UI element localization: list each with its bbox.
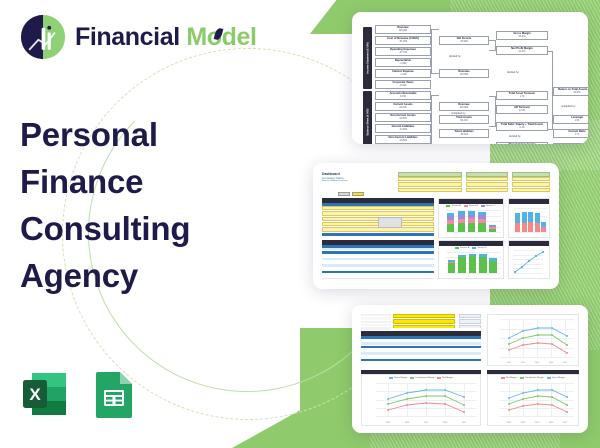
operator-divided-by-1: divided by xyxy=(449,55,461,58)
node-total-debt-ratio: Total Debt / Equity + Total Assets0.49 xyxy=(496,122,548,131)
chart-profitability xyxy=(508,198,550,238)
preview-card-dupont-flowchart[interactable]: Income Statement (€ 000) Balance Sheet (… xyxy=(352,12,588,144)
chart-investment-payback xyxy=(508,240,550,279)
preview-card-dashboard[interactable]: Dashboard Company Name Select a differen… xyxy=(313,163,559,289)
node-depreciation: Depreciation-1,980 xyxy=(375,58,431,67)
page-title-line2: Finance xyxy=(20,159,270,206)
chart-plot-area xyxy=(446,210,501,232)
node-return-on-total-assets: Return on Total Assets (ROA)39.0% xyxy=(553,87,588,96)
node-net-income: Net Income25,900 xyxy=(439,36,489,45)
node-financial-leverage: Financial Leverage (multiplier)1.95 xyxy=(553,143,588,144)
connector-margin-to-roa xyxy=(548,51,553,96)
connector-is-to-netincome xyxy=(431,29,439,74)
chart-plot-area-4 xyxy=(513,250,543,273)
brand-name-part1: Financial xyxy=(75,23,180,51)
chart-legend-bl: Gross Margin Contribution Margin Net Mar… xyxy=(362,376,480,380)
node-ar-turnover: AR Turnover12.65 xyxy=(496,105,548,114)
node-current-assets: Current Assets24,600 xyxy=(375,102,431,111)
bar-2023 xyxy=(447,213,454,232)
gm-top-series xyxy=(500,319,576,359)
bar-2026 xyxy=(478,212,485,232)
highlighted-cell-range xyxy=(378,217,402,228)
assumptions-rows-2 xyxy=(466,177,508,193)
node-non-current-assets: Non-Current Assets41,800 xyxy=(375,113,431,122)
google-sheets-icon[interactable] xyxy=(88,368,140,420)
assumptions-rows-3 xyxy=(512,177,550,193)
operator-divided-by-2: multiplied by xyxy=(451,112,465,115)
node-total-assets: Total Assets66,400 xyxy=(439,115,489,124)
band-balance-sheet: Balance Sheet (€ 000) xyxy=(363,91,372,144)
currency-value-cell[interactable] xyxy=(352,192,364,196)
dupont-flowchart: Income Statement (€ 000) Balance Sheet (… xyxy=(359,19,581,137)
chart-cash-flow: Service A Service D xyxy=(438,240,504,279)
left-content-column: Financial Model Personal Finance Consult… xyxy=(20,14,270,299)
node-revenue-3: Revenue115,800 xyxy=(439,102,489,111)
chart-title-bar-2 xyxy=(509,199,549,204)
circle-chart-logo-icon xyxy=(20,14,66,60)
projections-screenshot: 2023 2024 2025 2026 2027 Gross Margin Co… xyxy=(359,312,581,426)
currency-select[interactable] xyxy=(338,192,350,196)
node-current-liabilities: Current Liabilities-13,900 xyxy=(375,124,431,133)
node-corporate-taxes: Corporate Taxes-8,050 xyxy=(375,80,431,89)
connector-assets-to-turnover xyxy=(489,96,496,127)
brand-wordmark: Financial Model xyxy=(75,25,257,50)
page-title: Personal Finance Consulting Agency xyxy=(20,112,270,299)
node-revenue-2: Revenue115,800 xyxy=(439,69,489,78)
page-title-line4: Agency xyxy=(20,253,270,300)
chart-gross-margin-top: 2023 2024 2025 2026 2027 xyxy=(487,314,579,366)
chart-plot-area-3 xyxy=(446,252,501,273)
dashboard-header: Dashboard Company Name Select a differen… xyxy=(322,172,384,188)
preview-card-projections[interactable]: 2023 2024 2025 2026 2027 Gross Margin Co… xyxy=(352,305,588,433)
poster-canvas: Financial Model Personal Finance Consult… xyxy=(0,0,600,448)
chart-plot-area-2 xyxy=(514,208,547,232)
chart-title-bar-4 xyxy=(509,241,549,246)
core-financials-rows xyxy=(322,248,434,279)
node-accounts-receivable: Accounts Receivable9,150 xyxy=(375,91,431,100)
bar-2027 xyxy=(489,225,496,232)
operator-multiplied-by-1: divided by xyxy=(507,71,519,74)
key-financials-total-row xyxy=(322,233,434,236)
brand-logo: Financial Model xyxy=(20,14,270,60)
node-total-asset-turnover: Total Asset Turnover1.74 xyxy=(496,91,548,100)
band-income-statement: Income Statement (€ 000) xyxy=(363,27,372,89)
file-format-icons: X xyxy=(20,368,140,420)
projections-input-labels xyxy=(361,314,391,328)
microsoft-excel-icon[interactable]: X xyxy=(20,368,72,420)
projections-summary-cells xyxy=(459,314,481,328)
node-shareholders-equity: Shareholder's Equity34,000 xyxy=(496,142,548,144)
opex-br-series xyxy=(500,383,576,418)
chart-gross-margin-bottom-left: Gross Margin Contribution Margin Net Mar… xyxy=(361,374,481,426)
node-opex: Operating Expenses-27,750 xyxy=(375,47,431,56)
bar-2024 xyxy=(458,211,465,232)
page-title-line1: Personal xyxy=(20,112,270,159)
node-interest-expense: Interest Expense-1,120 xyxy=(375,69,431,78)
chart-title-bar-3 xyxy=(439,241,503,246)
node-current-ratio: Current Ratio1.77 xyxy=(553,129,588,138)
chart-plot-bl: 2023 2024 2025 2026 2027 xyxy=(376,383,476,416)
projections-table-rows xyxy=(361,339,481,364)
projections-yellow-inputs[interactable] xyxy=(393,314,455,328)
dashboard-screenshot: Dashboard Company Name Select a differen… xyxy=(320,170,552,282)
brand-name-part2: Model xyxy=(186,23,256,51)
svg-text:X: X xyxy=(29,385,41,404)
assumptions-rows-1 xyxy=(398,177,462,193)
node-leverage: Leverage1.95 xyxy=(553,115,588,124)
connector-netincome-to-margin xyxy=(489,40,496,51)
chart-legend-br: Net Margin Contribution Margin Gross Mar… xyxy=(488,376,578,380)
bar-2025 xyxy=(468,211,475,232)
chart-legend-2: Service A Service D xyxy=(439,246,503,250)
node-revenue: Revenue115,800 xyxy=(375,25,431,34)
connector-bs-to-assets xyxy=(431,95,439,144)
chart-title-bar xyxy=(439,199,503,204)
node-cogs: Cost of Revenue (COGS)-51,000 xyxy=(375,36,431,45)
chart-plot-gm-top: 2023 2024 2025 2026 2027 xyxy=(500,319,574,357)
operator-divided-by-3: divided by xyxy=(509,135,521,138)
node-total-liabilities: Total Liabilities-32,400 xyxy=(439,129,489,138)
connector-turnover-to-roa xyxy=(548,96,553,130)
chart-opex-bottom-right: Net Margin Contribution Margin Gross Mar… xyxy=(487,374,579,426)
operator-multiplied-by-2: multiplied by xyxy=(561,105,575,108)
chart-revenue-breakdown: Service A Service B Service C xyxy=(438,198,504,238)
page-title-line3: Consulting xyxy=(20,206,270,253)
gm-bl-series xyxy=(376,383,476,418)
node-gross-margin: Gross Margin56.0% xyxy=(496,31,548,40)
node-net-profit-margin: Net Profit Margin22.4% xyxy=(496,46,548,55)
node-non-current-liabilities: Non-Current Liabilities-18,500 xyxy=(375,135,431,144)
chart-plot-br: 2023 2024 2025 2026 2027 xyxy=(500,383,574,416)
payback-line-series xyxy=(513,250,545,275)
chart-legend: Service A Service B Service C xyxy=(439,204,503,208)
